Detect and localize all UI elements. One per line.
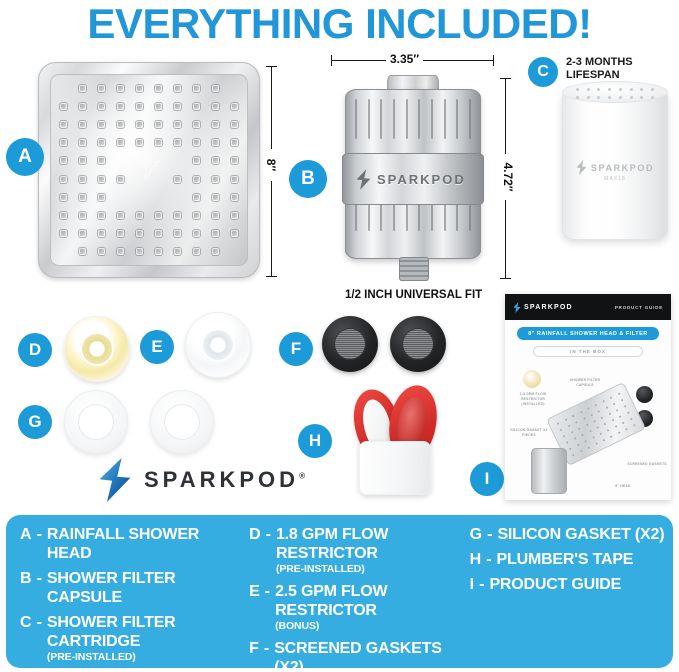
- capsule-threaded-outlet: [399, 257, 429, 281]
- guide-brand-label: SPARKPOD: [524, 304, 573, 311]
- shower-head-face: [50, 74, 248, 266]
- capsule-brand-label: SPARKPOD: [377, 172, 466, 187]
- dimension-cap-bottom: [266, 276, 277, 277]
- dimension-label-filter-height: 4.72″: [501, 154, 515, 200]
- legend-text-b: SHOWER FILTER CAPSULE: [47, 569, 245, 607]
- legend-column-3: G - SILICON GASKET (X2) H - PLUMBER'S TA…: [470, 525, 665, 662]
- legend-text-i: PRODUCT GUIDE: [489, 575, 621, 594]
- guide-screened-gasket-illustration-1: [636, 386, 653, 403]
- guide-restrictor-illustration: [523, 370, 541, 388]
- lifespan-line-2: LIFESPAN: [566, 69, 633, 82]
- product-screened-gasket-1: [322, 316, 378, 372]
- legend-item-e: E - 2.5 GPM FLOW RESTRICTOR (BONUS): [249, 582, 466, 633]
- legend-dash-g: -: [487, 525, 492, 544]
- legend-dash-f: -: [264, 639, 269, 672]
- legend-letter-b: B: [20, 569, 32, 607]
- registered-mark: ®: [299, 472, 305, 481]
- dimension-cap-top: [266, 66, 277, 67]
- guide-brand-lockup: SPARKPOD: [513, 302, 573, 313]
- legend-letter-a: A: [20, 525, 32, 563]
- guide-diagram: 1.8 GPM FLOW RESTRICTOR (INSTALLED) SHOW…: [505, 362, 671, 500]
- callout-badge-e: E: [140, 330, 174, 364]
- legend-dash-h: -: [486, 550, 491, 569]
- tape-holder-box: [359, 441, 431, 495]
- legend-sub-d: (PRE-INSTALLED): [276, 563, 466, 576]
- cartridge-vent-holes: [572, 86, 658, 102]
- legend-text-g: SILICON GASKET (X2): [497, 525, 664, 544]
- guide-filter-illustration: [531, 448, 567, 494]
- dimension-cap-left: [331, 55, 332, 66]
- flow-restrictor-1-8-center: [80, 332, 114, 366]
- callout-badge-d: D: [18, 333, 52, 367]
- page-title: EVERYTHING INCLUDED!: [0, 2, 679, 46]
- product-rainfall-shower-head: [38, 62, 260, 278]
- callout-badge-i: I: [470, 462, 504, 496]
- product-silicon-gasket-1: [64, 390, 128, 454]
- cartridge-branding: SPARKPOD MAX15: [562, 160, 668, 182]
- legend-letter-c: C: [20, 613, 32, 664]
- legend-text-c: SHOWER FILTER CARTRIDGE: [47, 613, 245, 651]
- product-shower-filter-cartridge: SPARKPOD MAX15: [562, 88, 668, 240]
- callout-badge-a: A: [6, 138, 44, 176]
- product-plumbers-tape: [345, 383, 441, 495]
- legend-item-d: D - 1.8 GPM FLOW RESTRICTOR (PRE-INSTALL…: [249, 525, 466, 576]
- guide-note-3: SILICON GASKET X2 PIECES: [509, 428, 549, 438]
- sparkpod-bolt-icon: [98, 458, 132, 502]
- legend-letter-i: I: [470, 575, 474, 594]
- capsule-fins-upper: [349, 91, 477, 143]
- callout-badge-f: F: [279, 332, 313, 366]
- legend-column-1: A - RAINFALL SHOWER HEAD B - SHOWER FILT…: [20, 525, 245, 662]
- legend-item-g: G - SILICON GASKET (X2): [470, 525, 665, 544]
- legend-text-a: RAINFALL SHOWER HEAD: [47, 525, 245, 563]
- cartridge-brand-label: SPARKPOD: [591, 163, 654, 173]
- lifespan-annotation: 2-3 MONTHS LIFESPAN: [566, 56, 633, 82]
- callout-badge-c: C: [528, 57, 558, 87]
- legend-panel: A - RAINFALL SHOWER HEAD B - SHOWER FILT…: [6, 515, 673, 668]
- legend-letter-f: F: [249, 639, 259, 672]
- sparkpod-bolt-icon: [138, 149, 160, 179]
- legend-dash-c: -: [37, 613, 42, 664]
- legend-dash-e: -: [265, 582, 270, 633]
- guide-note-4: SCREENED GASKETS: [627, 462, 667, 467]
- product-flow-restrictor-2-5-gpm: [185, 312, 251, 378]
- legend-sub-c: (PRE-INSTALLED): [47, 651, 245, 664]
- legend-dash-a: -: [37, 525, 42, 563]
- legend-letter-g: G: [470, 525, 482, 544]
- legend-sub-e: (BONUS): [275, 620, 466, 633]
- callout-badge-g: G: [18, 405, 52, 439]
- legend-dash-d: -: [266, 525, 271, 576]
- product-shower-filter-capsule: SPARKPOD: [345, 75, 481, 280]
- legend-text-f: SCREENED GASKETS (X2): [274, 639, 465, 672]
- legend-text-e: 2.5 GPM FLOW RESTRICTOR: [275, 582, 466, 620]
- flow-restrictor-2-5-center: [201, 328, 235, 362]
- legend-column-2: D - 1.8 GPM FLOW RESTRICTOR (PRE-INSTALL…: [249, 525, 466, 662]
- product-flow-restrictor-1-8-gpm: [64, 316, 130, 382]
- dimension-cap-top-filter: [500, 78, 511, 79]
- legend-dash-i: -: [479, 575, 484, 594]
- legend-dash-b: -: [37, 569, 42, 607]
- guide-note-1: 1.8 GPM FLOW RESTRICTOR (INSTALLED): [513, 392, 553, 407]
- brand-name: SPARKPOD: [144, 467, 299, 492]
- cartridge-model-label: MAX15: [604, 176, 626, 182]
- dimension-cap-right: [493, 55, 494, 66]
- capsule-label-band: SPARKPOD: [342, 153, 484, 205]
- legend-text-d: 1.8 GPM FLOW RESTRICTOR: [276, 525, 466, 563]
- product-silicon-gasket-2: [150, 390, 214, 454]
- dimension-label-shower-head-height: 8″: [264, 149, 278, 181]
- callout-badge-b: B: [289, 160, 327, 198]
- legend-item-h: H - PLUMBER'S TAPE: [470, 550, 665, 569]
- infographic-page: EVERYTHING INCLUDED!: [0, 0, 679, 672]
- sparkpod-bolt-icon: [356, 169, 371, 190]
- legend-text-h: PLUMBER'S TAPE: [497, 550, 634, 569]
- product-guide-booklet: SPARKPOD PRODUCT GUIDE 8" RAINFALL SHOWE…: [505, 294, 671, 500]
- guide-note-2: SHOWER FILTER CAPSULE: [565, 378, 605, 388]
- sparkpod-wordmark: SPARKPOD®: [144, 467, 305, 493]
- legend-item-i: I - PRODUCT GUIDE: [470, 575, 665, 594]
- product-screened-gasket-2: [390, 316, 446, 372]
- legend-item-b: B - SHOWER FILTER CAPSULE: [20, 569, 245, 607]
- guide-kicker-label: PRODUCT GUIDE: [615, 305, 663, 310]
- lifespan-line-1: 2-3 MONTHS: [566, 56, 633, 69]
- dimension-cap-bottom-filter: [500, 278, 511, 279]
- sparkpod-bolt-icon: [513, 302, 521, 313]
- guide-headline: 8" RAINFALL SHOWER HEAD & FILTER: [517, 327, 659, 340]
- legend-item-c: C - SHOWER FILTER CARTRIDGE (PRE-INSTALL…: [20, 613, 245, 664]
- legend-letter-d: D: [249, 525, 261, 576]
- sparkpod-logo-lockup: SPARKPOD®: [98, 458, 305, 502]
- guide-note-5: 8" HEAD: [603, 484, 643, 489]
- legend-letter-h: H: [470, 550, 482, 569]
- legend-item-f: F - SCREENED GASKETS (X2): [249, 639, 466, 672]
- universal-fit-label: 1/2 INCH UNIVERSAL FIT: [345, 289, 482, 301]
- sparkpod-bolt-icon: [576, 160, 587, 175]
- guide-header: SPARKPOD PRODUCT GUIDE: [505, 294, 671, 320]
- legend-letter-e: E: [249, 582, 260, 633]
- dimension-label-filter-width: 3.35″: [386, 52, 423, 66]
- callout-badge-h: H: [298, 424, 332, 458]
- guide-section-label: IN THE BOX: [533, 346, 643, 357]
- legend-item-a: A - RAINFALL SHOWER HEAD: [20, 525, 245, 563]
